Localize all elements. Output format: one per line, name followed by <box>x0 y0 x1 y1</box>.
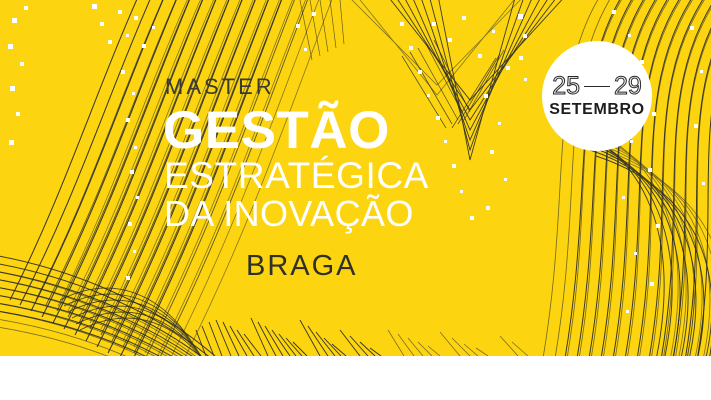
title-line-da-inovacao: DA INOVAÇÃO <box>164 196 583 232</box>
headline-block: MASTER GESTÃO ESTRATÉGICA DA INOVAÇÃO <box>163 76 583 232</box>
eyebrow-master: MASTER <box>165 76 583 98</box>
date-day-start: 25 <box>552 74 580 99</box>
title-line-gestao: GESTÃO <box>163 106 583 156</box>
date-day-end: 29 <box>614 74 642 99</box>
title-line-estrategica: ESTRATÉGICA <box>164 157 583 194</box>
date-range: 25 29 <box>552 74 642 99</box>
location-braga: BRAGA <box>246 252 358 281</box>
poster-stage: MASTER GESTÃO ESTRATÉGICA DA INOVAÇÃO BR… <box>0 0 711 356</box>
event-poster: MASTER GESTÃO ESTRATÉGICA DA INOVAÇÃO BR… <box>0 0 711 400</box>
date-range-dash <box>584 86 610 88</box>
date-month: SETEMBRO <box>549 102 644 118</box>
date-badge: 25 29 SETEMBRO <box>542 41 652 151</box>
poster-footer: TECMINHO UNIVERSIDADE DO MINHO INTERFACE… <box>0 356 711 400</box>
